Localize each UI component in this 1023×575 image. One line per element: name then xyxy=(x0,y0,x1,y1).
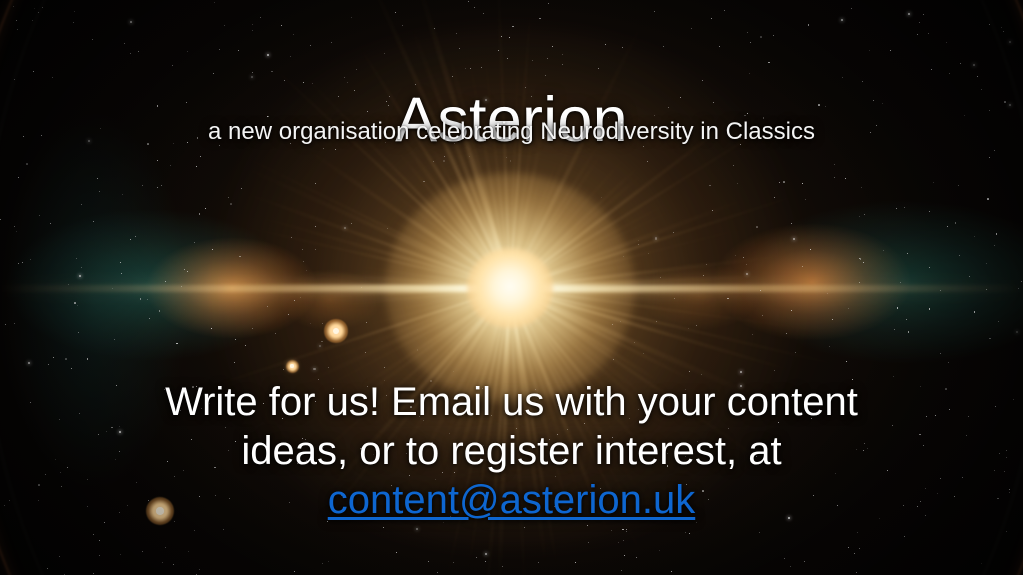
email-link[interactable]: content@asterion.uk xyxy=(328,478,695,522)
cta-line-1: Write for us! Email us with your content xyxy=(0,378,1023,427)
cta-line-3: content@asterion.uk xyxy=(0,476,1023,525)
cta-line-2: ideas, or to register interest, at xyxy=(0,427,1023,476)
slide-content: Asterion a new organisation celebrating … xyxy=(0,0,1023,575)
presentation-slide: Asterion a new organisation celebrating … xyxy=(0,0,1023,575)
call-to-action-text: Write for us! Email us with your content… xyxy=(0,378,1023,525)
page-subtitle: a new organisation celebrating Neurodive… xyxy=(0,118,1023,146)
